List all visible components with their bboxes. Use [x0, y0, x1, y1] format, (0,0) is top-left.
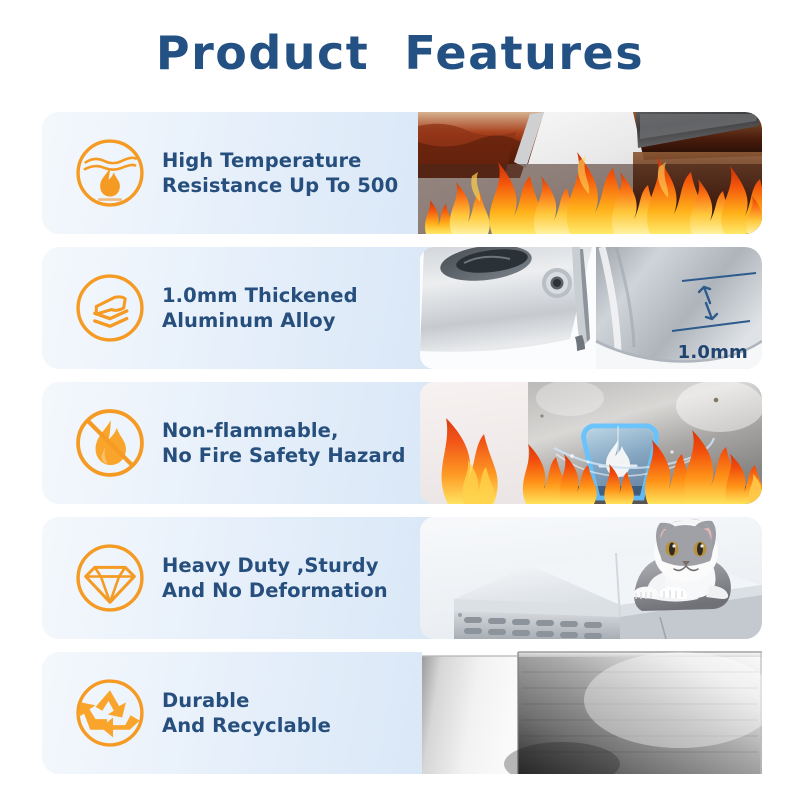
thickness-callout-label: 1.0mm	[678, 342, 748, 363]
feature-card-content: Durable And Recyclable	[42, 652, 420, 774]
feature-row-thickness: 1.0mm Thickened Aluminum Alloy	[42, 247, 762, 369]
feature-card: High Temperature Resistance Up To 500	[42, 112, 762, 234]
feature-row-high-temperature: High Temperature Resistance Up To 500	[42, 112, 762, 234]
page-title: Product Features	[0, 26, 800, 80]
cat-sitting-on-appliance-photo	[420, 517, 762, 639]
feature-row-heavy-duty: Heavy Duty ,Sturdy And No Deformation	[42, 517, 762, 639]
feature-card-content: Heavy Duty ,Sturdy And No Deformation	[42, 517, 420, 639]
recycle-icon	[64, 675, 156, 751]
feature-card: Non-flammable, No Fire Safety Hazard	[42, 382, 762, 504]
feature-label: High Temperature Resistance Up To 500	[162, 148, 398, 199]
no-flame-prohibited-icon	[64, 405, 156, 481]
feature-label: Non-flammable, No Fire Safety Hazard	[162, 418, 406, 469]
product-features-infographic: Product Features High Temperature R	[0, 0, 800, 800]
flames-over-metal-panel-photo	[418, 112, 762, 234]
feature-card-content: Non-flammable, No Fire Safety Hazard	[42, 382, 420, 504]
feature-card-content: High Temperature Resistance Up To 500	[42, 112, 420, 234]
high-temperature-flame-icon	[64, 135, 156, 211]
feature-list: High Temperature Resistance Up To 500	[42, 112, 762, 787]
feature-row-non-flammable: Non-flammable, No Fire Safety Hazard	[42, 382, 762, 504]
aluminum-panel-edge-closeup-photo: 1.0mm	[420, 247, 762, 369]
feature-row-recyclable: Durable And Recyclable	[42, 652, 762, 774]
fire-shield-protection-photo	[420, 382, 762, 504]
feature-label: 1.0mm Thickened Aluminum Alloy	[162, 283, 358, 334]
feature-label: Durable And Recyclable	[162, 688, 331, 739]
diamond-icon	[64, 540, 156, 616]
stacked-layers-icon	[64, 270, 156, 346]
feature-card: Heavy Duty ,Sturdy And No Deformation	[42, 517, 762, 639]
brushed-metal-sheet-photo	[422, 642, 762, 774]
feature-card: 1.0mm Thickened Aluminum Alloy	[42, 247, 762, 369]
feature-label: Heavy Duty ,Sturdy And No Deformation	[162, 553, 388, 604]
feature-card-content: 1.0mm Thickened Aluminum Alloy	[42, 247, 420, 369]
